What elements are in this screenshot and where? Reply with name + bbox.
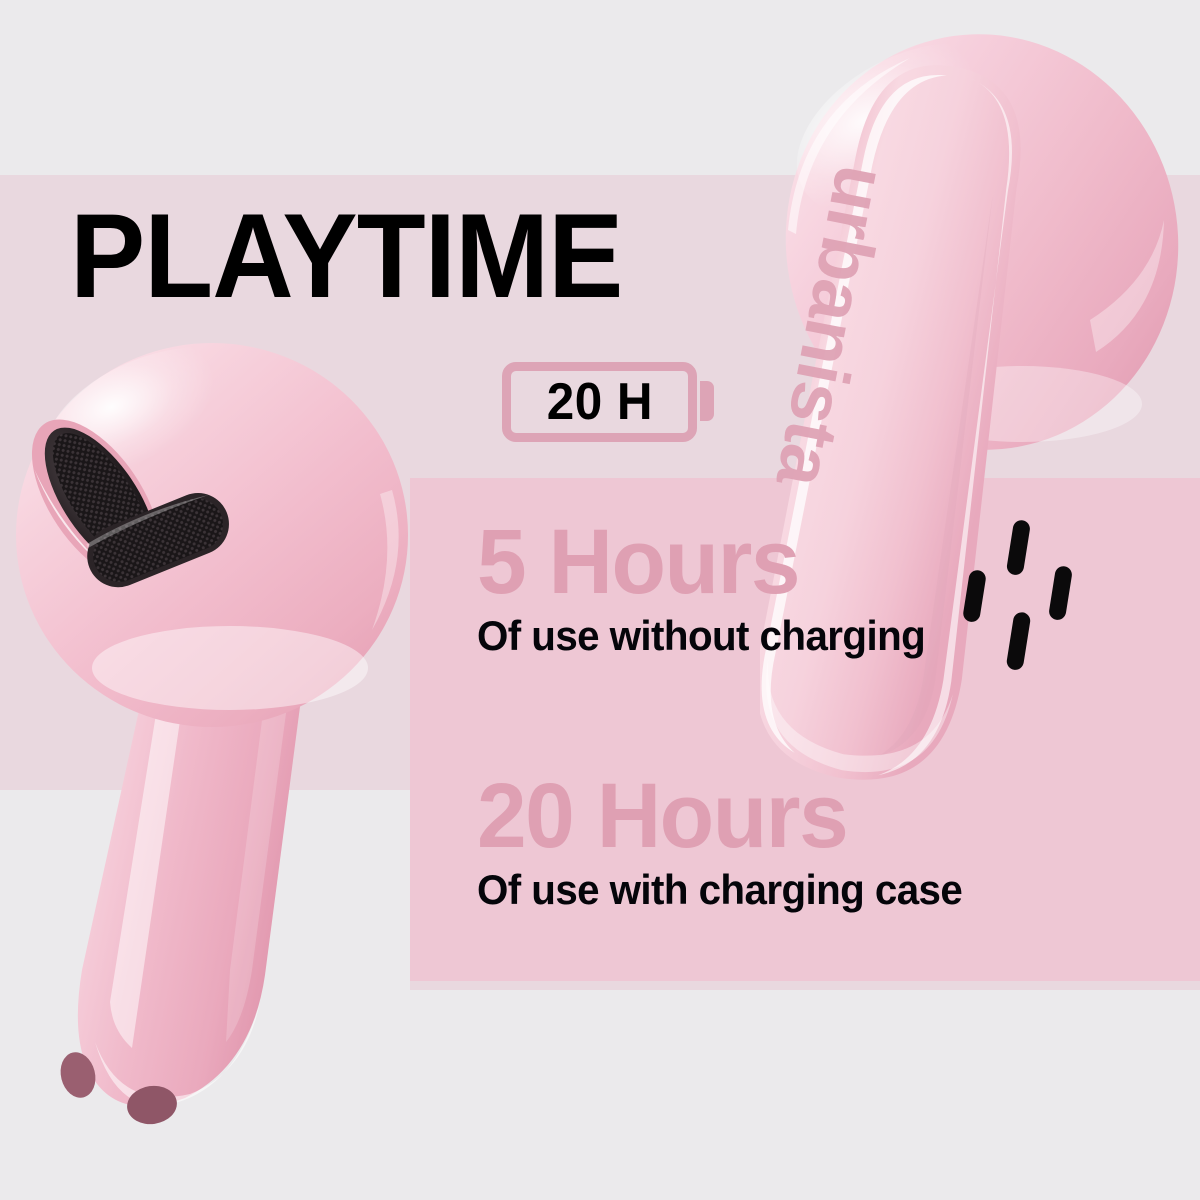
marketing-banner: urbanista PLAYTIME 20 H 5 Hours Of use w… [0, 0, 1200, 1200]
left-earbud [0, 330, 460, 1150]
mic-slot-top [1006, 519, 1031, 576]
spec-number: 5 Hours [477, 518, 930, 606]
battery-terminal-icon [700, 381, 714, 421]
spec-description: Of use without charging [477, 613, 925, 658]
spec-block-playtime-bud: 5 Hours Of use without charging [477, 518, 944, 659]
right-earbud-mic-slots [962, 519, 1073, 671]
spec-number: 20 Hours [477, 772, 967, 860]
mic-slot-right [1048, 565, 1073, 621]
spec-description: Of use with charging case [477, 867, 962, 912]
right-earbud-graphic [760, 20, 1200, 840]
mic-slot-bottom [1006, 611, 1032, 671]
left-earbud-graphic [0, 330, 460, 1150]
battery-badge: 20 H [502, 362, 697, 442]
battery-badge-value: 20 H [546, 372, 652, 432]
page-title: PLAYTIME [70, 196, 622, 316]
spec-block-playtime-case: 20 Hours Of use with charging case [477, 772, 982, 913]
right-earbud [760, 20, 1200, 840]
